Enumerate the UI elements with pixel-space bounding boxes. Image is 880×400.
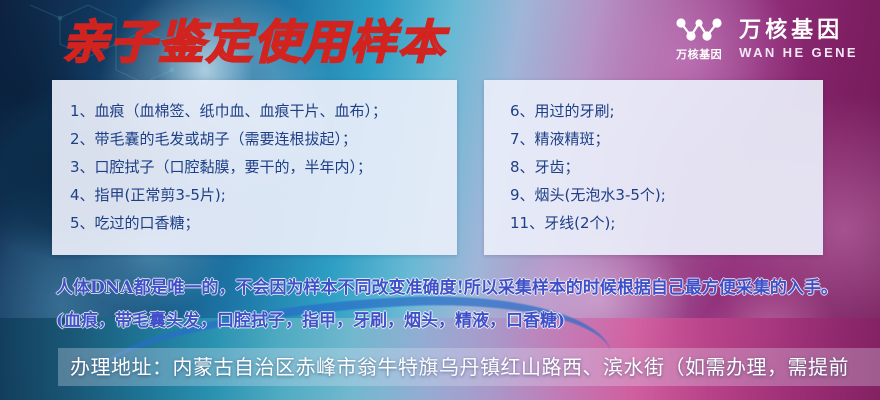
page-title: 亲子鉴定使用样本 bbox=[62, 16, 446, 68]
brand-text: 万核基因 WAN HE GENE bbox=[739, 17, 858, 60]
poster-canvas: 亲子鉴定使用样本 万核基因 万核基 bbox=[0, 0, 880, 400]
sample-list-panel-right: 6、用过的牙刷; 7、精液精斑； 8、牙齿； 9、烟头(无泡水3-5个); 11… bbox=[484, 80, 823, 255]
list-item: 2、带毛囊的毛发或胡子（需要连根拔起）； bbox=[70, 125, 457, 153]
list-item: 8、牙齿； bbox=[510, 153, 823, 181]
list-item: 9、烟头(无泡水3-5个); bbox=[510, 181, 823, 209]
brand-name-cn: 万核基因 bbox=[739, 17, 858, 43]
address-text: 办理地址：内蒙古自治区赤峰市翁牛特旗乌丹镇红山路西、滨水街（如需办理，需提前 bbox=[70, 352, 880, 382]
dna-note-text: 人体DNA都是唯一的，不会因为样本不同改变准确度!所以采集样本的时候根据自己最方… bbox=[56, 272, 856, 338]
sample-list-left: 1、血痕（血棉签、纸巾血、血痕干片、血布）； 2、带毛囊的毛发或胡子（需要连根拔… bbox=[52, 80, 457, 237]
list-item: 7、精液精斑； bbox=[510, 125, 823, 153]
list-item: 1、血痕（血棉签、纸巾血、血痕干片、血布）； bbox=[70, 97, 457, 125]
list-item: 4、指甲(正常剪3-5片); bbox=[70, 181, 457, 209]
brand-name-en: WAN HE GENE bbox=[739, 45, 858, 60]
list-item: 11、牙线(2个); bbox=[510, 209, 823, 237]
list-item: 3、口腔拭子（口腔黏膜，要干的，半年内）； bbox=[70, 153, 457, 181]
sample-list-panel-left: 1、血痕（血棉签、纸巾血、血痕干片、血布）； 2、带毛囊的毛发或胡子（需要连根拔… bbox=[52, 80, 457, 255]
list-item: 5、吃过的口香糖； bbox=[70, 209, 457, 237]
molecule-nodes-icon bbox=[673, 14, 725, 44]
brand-mark: 万核基因 bbox=[673, 14, 725, 62]
brand-logo: 万核基因 万核基因 WAN HE GENE bbox=[673, 14, 858, 62]
list-item: 6、用过的牙刷; bbox=[510, 97, 823, 125]
sample-list-right: 6、用过的牙刷; 7、精液精斑； 8、牙齿； 9、烟头(无泡水3-5个); 11… bbox=[484, 80, 823, 237]
brand-mark-label: 万核基因 bbox=[676, 46, 722, 62]
